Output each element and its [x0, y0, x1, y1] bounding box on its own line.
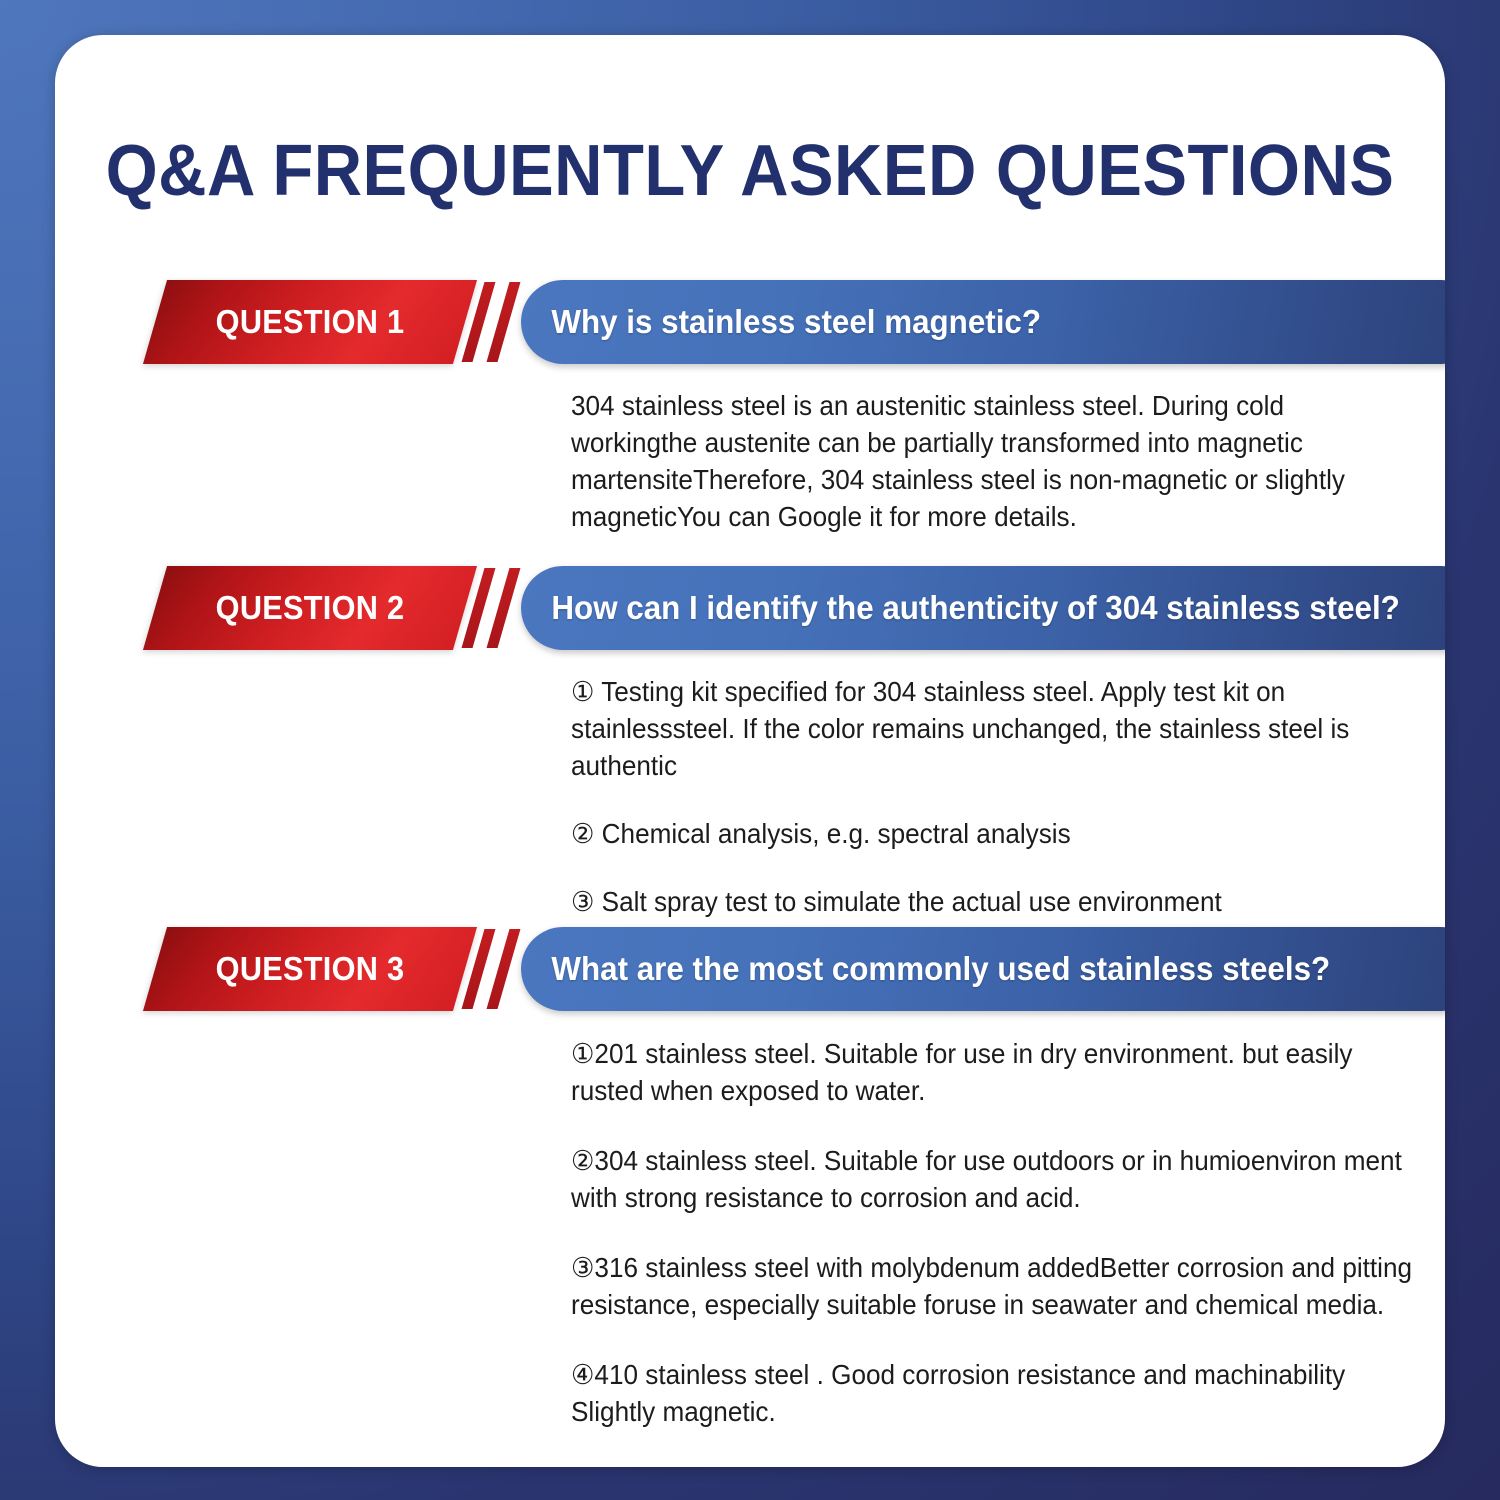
page-title: Q&A FREQUENTLY ASKED QUESTIONS	[104, 130, 1397, 212]
answer-block-3: ①201 stainless steel. Suitable for use i…	[571, 1035, 1417, 1430]
answer-paragraph: ③316 stainless steel with molybdenum add…	[571, 1249, 1417, 1323]
answer-paragraph: ④410 stainless steel . Good corrosion re…	[571, 1356, 1417, 1430]
answer-paragraph: ③ Salt spray test to simulate the actual…	[571, 883, 1417, 920]
question-text-2: How can I identify the authenticity of 3…	[521, 589, 1400, 627]
answer-paragraph: ①201 stainless steel. Suitable for use i…	[571, 1035, 1417, 1109]
question-tag-label-2: QUESTION 2	[166, 566, 454, 650]
question-pill-2[interactable]: How can I identify the authenticity of 3…	[521, 566, 1445, 650]
answer-block-2: ① Testing kit specified for 304 stainles…	[571, 673, 1417, 920]
question-text-1: Why is stainless steel magnetic?	[521, 303, 1041, 341]
question-row-3: QUESTION 3 What are the most commonly us…	[55, 927, 1445, 1011]
question-text-3: What are the most commonly used stainles…	[521, 950, 1330, 988]
answer-paragraph: ① Testing kit specified for 304 stainles…	[571, 673, 1417, 784]
question-tag-label-1: QUESTION 1	[166, 280, 454, 364]
answer-paragraph: ②304 stainless steel. Suitable for use o…	[571, 1142, 1417, 1216]
question-pill-1[interactable]: Why is stainless steel magnetic?	[521, 280, 1445, 364]
question-pill-3[interactable]: What are the most commonly used stainles…	[521, 927, 1445, 1011]
faq-card: Q&A FREQUENTLY ASKED QUESTIONS QUESTION …	[55, 35, 1445, 1467]
answer-paragraph: 304 stainless steel is an austenitic sta…	[571, 387, 1417, 535]
answer-block-1: 304 stainless steel is an austenitic sta…	[571, 387, 1417, 535]
question-row-2: QUESTION 2 How can I identify the authen…	[55, 566, 1445, 650]
question-tag-label-3: QUESTION 3	[166, 927, 454, 1011]
question-row-1: QUESTION 1 Why is stainless steel magnet…	[55, 280, 1445, 364]
answer-paragraph: ② Chemical analysis, e.g. spectral analy…	[571, 815, 1417, 852]
